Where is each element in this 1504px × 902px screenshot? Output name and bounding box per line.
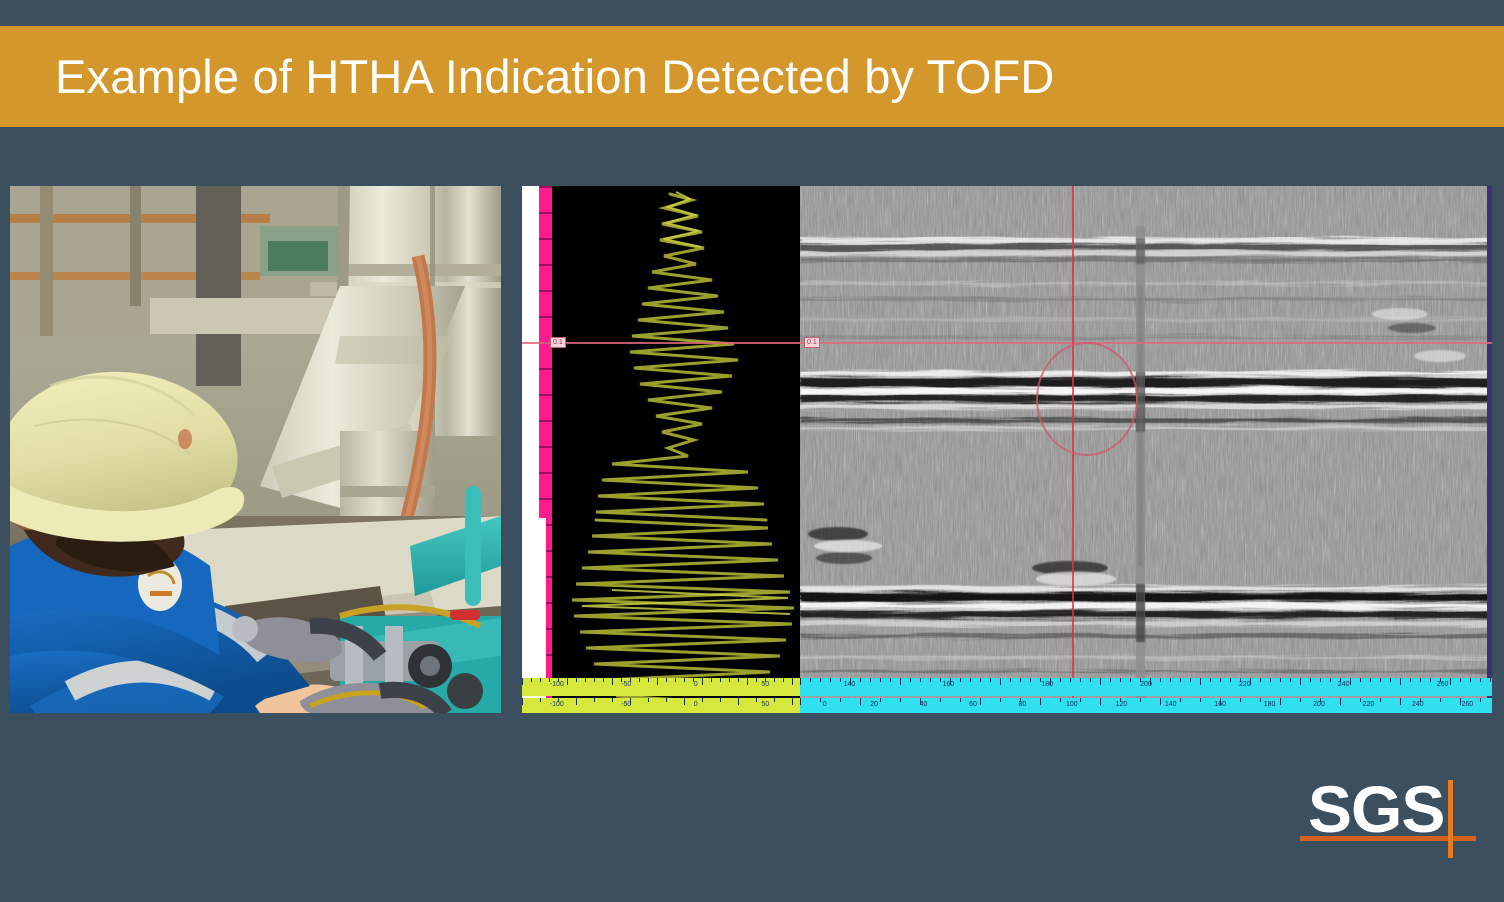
ruler-tick [567, 678, 568, 685]
ruler-tick [1380, 678, 1381, 682]
ruler-tick [900, 678, 901, 685]
ruler-label: 240 [1412, 701, 1424, 708]
ruler-tick [612, 698, 613, 702]
ruler-tick [900, 698, 901, 702]
ruler-tick [1350, 678, 1351, 685]
ruler-label: -100 [550, 701, 564, 708]
inspection-photo-illustration [10, 186, 501, 713]
ascan-ruler-top[interactable]: -100-50050 [522, 678, 800, 696]
ruler-tick [1130, 678, 1131, 682]
ruler-tick [970, 678, 971, 682]
ruler-tick [1380, 698, 1381, 702]
ruler-tick [960, 678, 961, 682]
ruler-tick [990, 678, 991, 682]
ruler-tick [820, 698, 821, 702]
ruler-label: 0 [694, 681, 698, 688]
ruler-tick [1470, 678, 1471, 682]
bscan-image [800, 186, 1492, 713]
ruler-tick [870, 678, 871, 682]
ruler-tick [940, 678, 941, 682]
ruler-tick [576, 698, 577, 705]
bscan-cursor-tag: 0.1 [804, 337, 820, 348]
ruler-label: 140 [1165, 701, 1177, 708]
ruler-tick [920, 678, 921, 682]
ruler-tick [1280, 678, 1281, 682]
ruler-label: -100 [550, 681, 564, 688]
ruler-tick [792, 678, 793, 685]
bscan-ruler-bottom-ticks: 020406080100120140160180200220240260 [800, 698, 1492, 713]
ruler-tick [1400, 698, 1401, 705]
ruler-tick [800, 698, 801, 705]
ruler-tick [648, 698, 649, 702]
ruler-tick [1260, 698, 1261, 702]
ruler-tick [1060, 698, 1061, 702]
ruler-tick [1430, 678, 1431, 682]
ruler-label: 50 [761, 681, 769, 688]
ruler-tick [930, 678, 931, 682]
ruler-tick [603, 678, 604, 682]
ruler-label: 220 [1363, 701, 1375, 708]
ruler-tick [960, 698, 961, 702]
ruler-tick [1410, 678, 1411, 682]
ruler-tick [522, 698, 523, 705]
ruler-tick [540, 678, 541, 682]
tofd-instrument-panel: 0.1 -100-50050 -100-50050 [522, 186, 1492, 713]
ruler-tick [783, 678, 784, 682]
ruler-tick [1390, 678, 1391, 682]
ruler-tick [1280, 698, 1281, 705]
ruler-tick [1100, 678, 1101, 685]
ruler-label: 160 [1214, 701, 1226, 708]
ruler-tick [1090, 678, 1091, 682]
ruler-tick [1100, 698, 1101, 705]
sgs-wordmark: SGS [1308, 776, 1444, 842]
ruler-tick [1180, 698, 1181, 702]
ruler-tick [594, 678, 595, 682]
ruler-tick [1290, 678, 1291, 682]
ruler-label: 60 [969, 701, 977, 708]
ruler-tick [860, 698, 861, 705]
bscan-panel[interactable]: 0.1 140160180200220240260 02040608010012… [800, 186, 1492, 713]
sgs-logo: SGS [1300, 774, 1476, 860]
ruler-tick [1160, 698, 1161, 705]
ruler-label: 140 [844, 681, 856, 688]
bscan-ruler-top[interactable]: 140160180200220240260 [800, 678, 1492, 696]
ruler-tick [840, 678, 841, 682]
slide-canvas: Example of HTHA Indication Detected by T… [0, 0, 1504, 902]
ruler-tick [1080, 678, 1081, 682]
ruler-tick [1030, 678, 1031, 682]
ruler-tick [1060, 678, 1061, 682]
ruler-tick [1480, 678, 1481, 682]
ruler-label: 260 [1437, 681, 1449, 688]
ruler-tick [720, 678, 721, 682]
ruler-tick [940, 698, 941, 702]
ruler-tick [840, 698, 841, 702]
ruler-tick [1160, 678, 1161, 682]
ruler-label: 240 [1338, 681, 1350, 688]
ruler-label: 50 [761, 701, 769, 708]
ruler-tick [1170, 678, 1171, 682]
ruler-tick [1440, 698, 1441, 702]
ruler-tick [1230, 678, 1231, 682]
ruler-tick [1040, 698, 1041, 705]
bscan-right-edge [1487, 186, 1492, 713]
ruler-tick [1140, 698, 1141, 702]
ruler-tick [890, 678, 891, 682]
ruler-tick [1190, 678, 1191, 682]
ruler-tick [1240, 698, 1241, 702]
ruler-tick [774, 678, 775, 682]
ascan-left-gutter [522, 186, 539, 713]
ruler-label: 0 [694, 701, 698, 708]
ruler-tick [702, 678, 703, 685]
ruler-tick [1010, 678, 1011, 682]
ascan-ruler-bottom[interactable]: -100-50050 [522, 698, 800, 713]
title-banner: Example of HTHA Indication Detected by T… [0, 26, 1504, 127]
ruler-tick [1070, 678, 1071, 682]
ruler-tick [1480, 698, 1481, 702]
ruler-tick [648, 678, 649, 682]
ruler-tick [594, 698, 595, 702]
bscan-ruler-bottom[interactable]: 020406080100120140160180200220240260 [800, 698, 1492, 713]
ascan-waveform [552, 186, 800, 713]
ascan-cursor-tag: 0.1 [550, 337, 566, 348]
ruler-tick [738, 678, 739, 682]
ruler-tick [880, 698, 881, 702]
ruler-tick [1000, 678, 1001, 685]
ruler-tick [1360, 698, 1361, 702]
ruler-label: 40 [920, 701, 928, 708]
bscan-ruler-top-ticks: 140160180200220240260 [800, 678, 1492, 696]
ruler-label: 0 [823, 701, 827, 708]
ruler-tick [1370, 678, 1371, 682]
ruler-tick [1490, 678, 1491, 682]
ruler-tick [1300, 698, 1301, 702]
ruler-tick [756, 678, 757, 682]
ruler-tick [792, 698, 793, 705]
ruler-tick [711, 678, 712, 682]
ascan-panel: 0.1 -100-50050 -100-50050 [522, 186, 800, 713]
ruler-label: -50 [621, 701, 631, 708]
ruler-label: 80 [1019, 701, 1027, 708]
ascan-ruler-bottom-ticks: -100-50050 [522, 698, 800, 713]
ruler-tick [1260, 678, 1261, 682]
ruler-tick [910, 678, 911, 682]
ruler-label: -50 [621, 681, 631, 688]
ruler-tick [1320, 678, 1321, 682]
ruler-tick [1200, 678, 1201, 685]
ruler-tick [585, 678, 586, 682]
ruler-tick [522, 678, 523, 685]
ruler-tick [747, 678, 748, 685]
ruler-tick [684, 698, 685, 705]
ascan-waveform-plot[interactable] [552, 186, 800, 713]
ruler-tick [1110, 678, 1111, 682]
ruler-tick [666, 698, 667, 702]
ruler-label: 200 [1140, 681, 1152, 688]
ruler-tick [1120, 678, 1121, 682]
ruler-tick [1310, 678, 1311, 682]
ruler-tick [820, 678, 821, 682]
ruler-tick [1360, 678, 1361, 682]
ruler-label: 220 [1239, 681, 1251, 688]
ruler-tick [1300, 678, 1301, 685]
sgs-vertical-bar [1448, 780, 1453, 858]
ruler-label: 260 [1461, 701, 1473, 708]
ruler-label: 20 [870, 701, 878, 708]
ruler-tick [1340, 698, 1341, 705]
ruler-tick [1450, 678, 1451, 685]
inspection-photo [10, 186, 501, 713]
ruler-tick [1220, 678, 1221, 682]
ruler-tick [720, 698, 721, 702]
ruler-tick [1270, 678, 1271, 682]
ruler-tick [540, 698, 541, 702]
ruler-tick [666, 678, 667, 682]
ruler-tick [810, 678, 811, 682]
ruler-tick [800, 678, 801, 685]
ruler-tick [1020, 678, 1021, 682]
ruler-tick [1200, 698, 1201, 702]
ruler-tick [657, 678, 658, 685]
ruler-tick [684, 678, 685, 682]
ruler-tick [756, 698, 757, 702]
ruler-tick [576, 678, 577, 682]
ruler-tick [531, 678, 532, 682]
ruler-label: 200 [1313, 701, 1325, 708]
ascan-ruler-top-ticks: -100-50050 [522, 678, 800, 696]
ruler-label: 180 [1264, 701, 1276, 708]
ruler-tick [1420, 678, 1421, 682]
ruler-tick [1080, 698, 1081, 702]
ruler-tick [880, 678, 881, 682]
ruler-tick [1210, 678, 1211, 682]
ruler-tick [830, 678, 831, 682]
ruler-tick [1000, 698, 1001, 702]
ruler-tick [639, 678, 640, 682]
ruler-tick [860, 678, 861, 682]
ruler-label: 120 [1115, 701, 1127, 708]
ruler-tick [774, 698, 775, 702]
ruler-label: 100 [1066, 701, 1078, 708]
ruler-tick [702, 698, 703, 702]
ruler-label: 160 [942, 681, 954, 688]
page-title: Example of HTHA Indication Detected by T… [55, 49, 1055, 104]
ruler-tick [980, 678, 981, 682]
ruler-tick [1180, 678, 1181, 682]
ruler-tick [675, 678, 676, 682]
ruler-tick [738, 698, 739, 705]
ruler-tick [1460, 678, 1461, 682]
ruler-tick [612, 678, 613, 685]
ruler-tick [1330, 678, 1331, 682]
ruler-label: 180 [1041, 681, 1053, 688]
ruler-tick [980, 698, 981, 705]
ascan-gate-strip[interactable] [539, 186, 552, 713]
ruler-tick [729, 678, 730, 682]
ruler-tick [1400, 678, 1401, 685]
